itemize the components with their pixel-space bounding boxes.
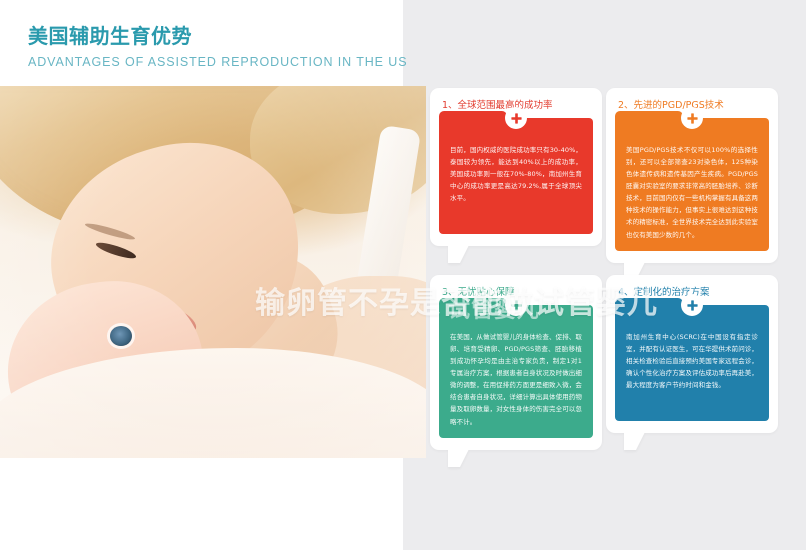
hero-photo-mother-and-baby <box>0 86 426 458</box>
card-color-panel: 在美国，从做试管婴儿的身体检查、促排、取卵、培育受精卵、PGD/PGS筛查、胚胎… <box>439 305 593 437</box>
card-body-text: 目前，国内权威的医院成功率只有30-40%，泰国较为领先，能达到40%以上的成功… <box>450 144 582 204</box>
page-title-english: ADVANTAGES OF ASSISTED REPRODUCTION IN T… <box>28 55 388 69</box>
advantage-card-2[interactable]: 2、先进的PGD/PGS技术美国PGD/PGS技术不仅可以100%的选择性别，还… <box>606 88 778 263</box>
card-folder-tab <box>615 298 683 310</box>
card-body-text: 在美国，从做试管婴儿的身体检查、促排、取卵、培育受精卵、PGD/PGS筛查、胚胎… <box>450 331 582 427</box>
card-folder-tab <box>615 111 683 123</box>
card-body: 4、定制化的治疗方案南加州生育中心(SCRC)在中国设有指定诊室，并配有认证医生… <box>606 275 778 433</box>
card-body: 2、先进的PGD/PGS技术美国PGD/PGS技术不仅可以100%的选择性别，还… <box>606 88 778 263</box>
card-color-panel: 美国PGD/PGS技术不仅可以100%的选择性别，还可以全部筛查23对染色体，1… <box>615 118 769 250</box>
card-body-text: 美国PGD/PGS技术不仅可以100%的选择性别，还可以全部筛查23对染色体，1… <box>626 144 758 240</box>
page-title-chinese: 美国辅助生育优势 <box>28 24 388 49</box>
plus-icon <box>505 294 527 316</box>
heading-block: 美国辅助生育优势 ADVANTAGES OF ASSISTED REPRODUC… <box>28 24 388 69</box>
card-speech-tail <box>448 245 469 263</box>
card-color-panel: 目前，国内权威的医院成功率只有30-40%，泰国较为领先，能达到40%以上的成功… <box>439 118 593 234</box>
page-root: 美国辅助生育优势 ADVANTAGES OF ASSISTED REPRODUC… <box>0 0 806 550</box>
card-body-text: 南加州生育中心(SCRC)在中国设有指定诊室，并配有认证医生，可在华提供术前问诊… <box>626 331 758 391</box>
card-folder-tab <box>439 111 507 123</box>
card-speech-tail <box>448 449 469 467</box>
card-body: 1、全球范围最高的成功率目前，国内权威的医院成功率只有30-40%，泰国较为领先… <box>430 88 602 246</box>
card-body: 3、无忧贴心保障在美国，从做试管婴儿的身体检查、促排、取卵、培育受精卵、PGD/… <box>430 275 602 450</box>
card-speech-tail <box>624 432 645 450</box>
plus-icon <box>681 107 703 129</box>
card-folder-tab <box>439 298 507 310</box>
advantage-card-4[interactable]: 4、定制化的治疗方案南加州生育中心(SCRC)在中国设有指定诊室，并配有认证医生… <box>606 275 778 433</box>
advantage-card-1[interactable]: 1、全球范围最高的成功率目前，国内权威的医院成功率只有30-40%，泰国较为领先… <box>430 88 602 246</box>
photo-soft-glow <box>0 86 426 458</box>
advantage-card-3[interactable]: 3、无忧贴心保障在美国，从做试管婴儿的身体检查、促排、取卵、培育受精卵、PGD/… <box>430 275 602 450</box>
plus-icon <box>681 294 703 316</box>
plus-icon <box>505 107 527 129</box>
card-color-panel: 南加州生育中心(SCRC)在中国设有指定诊室，并配有认证医生，可在华提供术前问诊… <box>615 305 769 421</box>
